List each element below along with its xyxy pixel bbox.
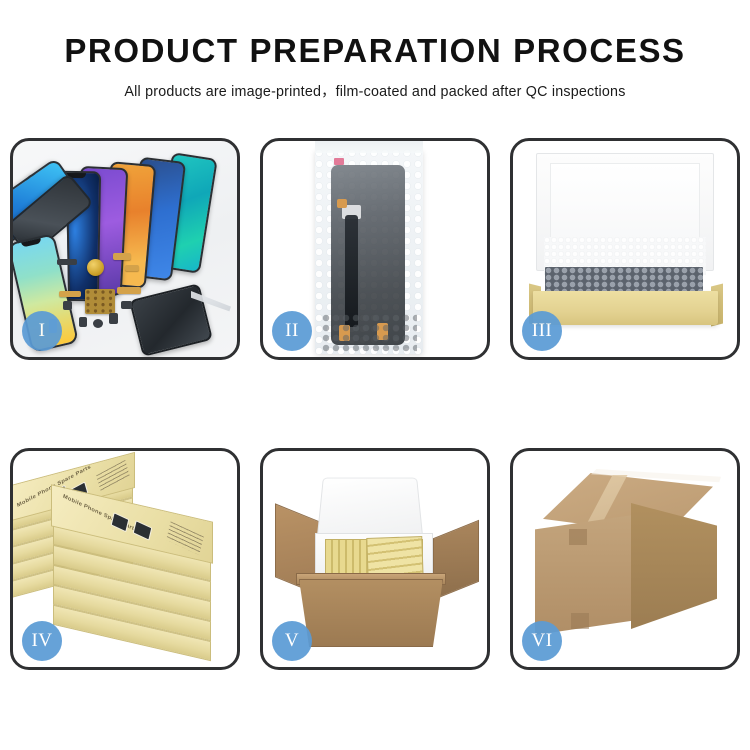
- step-badge-5: V: [272, 621, 312, 661]
- process-steps-grid: I II: [10, 138, 740, 670]
- small-part-chip: [109, 313, 118, 324]
- speaker-coil-part: [87, 259, 104, 276]
- step-badge-4: IV: [22, 621, 62, 661]
- process-step-panel-5: V: [260, 448, 490, 670]
- flex-cable-part: [117, 287, 141, 294]
- small-part-chip: [121, 301, 132, 309]
- small-part-chip: [93, 319, 103, 328]
- disassembled-phone-back: [129, 283, 213, 357]
- screws-tray-part: [85, 289, 115, 314]
- process-step-panel-1: I: [10, 138, 240, 360]
- flex-cable-part: [59, 291, 81, 297]
- process-step-panel-2: II: [260, 138, 490, 360]
- kraft-box-front-wall: [533, 291, 718, 325]
- process-step-panel-4: Mobile Phone Spare Parts Mobile Phone Sp…: [10, 448, 240, 670]
- lcd-flex-strip: [345, 215, 358, 327]
- flex-cable-part: [125, 265, 139, 271]
- phone-notch: [21, 238, 42, 247]
- flex-cable-part: [113, 253, 131, 260]
- carton-side-face: [631, 503, 717, 629]
- small-part-chip: [63, 301, 72, 310]
- pink-label-sticker: [334, 158, 344, 165]
- step-badge-6: VI: [522, 621, 562, 661]
- bag-top-fold: [315, 141, 423, 153]
- carton-body: [299, 579, 443, 647]
- small-part-bar: [57, 259, 77, 265]
- bag-bottom-bubbles: [321, 313, 417, 353]
- orange-tape-tab: [337, 199, 347, 208]
- step-badge-1: I: [22, 311, 62, 351]
- carton-handle-cutout: [571, 613, 589, 629]
- foam-liner-lid: [317, 478, 423, 539]
- page-header: PRODUCT PREPARATION PROCESS All products…: [0, 0, 750, 101]
- page-subtitle: All products are image-printed，film-coat…: [0, 80, 750, 101]
- step-badge-3: III: [522, 311, 562, 351]
- process-step-panel-6: VI: [510, 448, 740, 670]
- small-part-chip: [79, 317, 87, 327]
- process-step-panel-3: III: [510, 138, 740, 360]
- step-badge-2: II: [272, 311, 312, 351]
- page-title: PRODUCT PREPARATION PROCESS: [0, 34, 750, 69]
- product-preparation-process-page: PRODUCT PREPARATION PROCESS All products…: [0, 0, 750, 750]
- carton-handle-cutout: [569, 529, 587, 545]
